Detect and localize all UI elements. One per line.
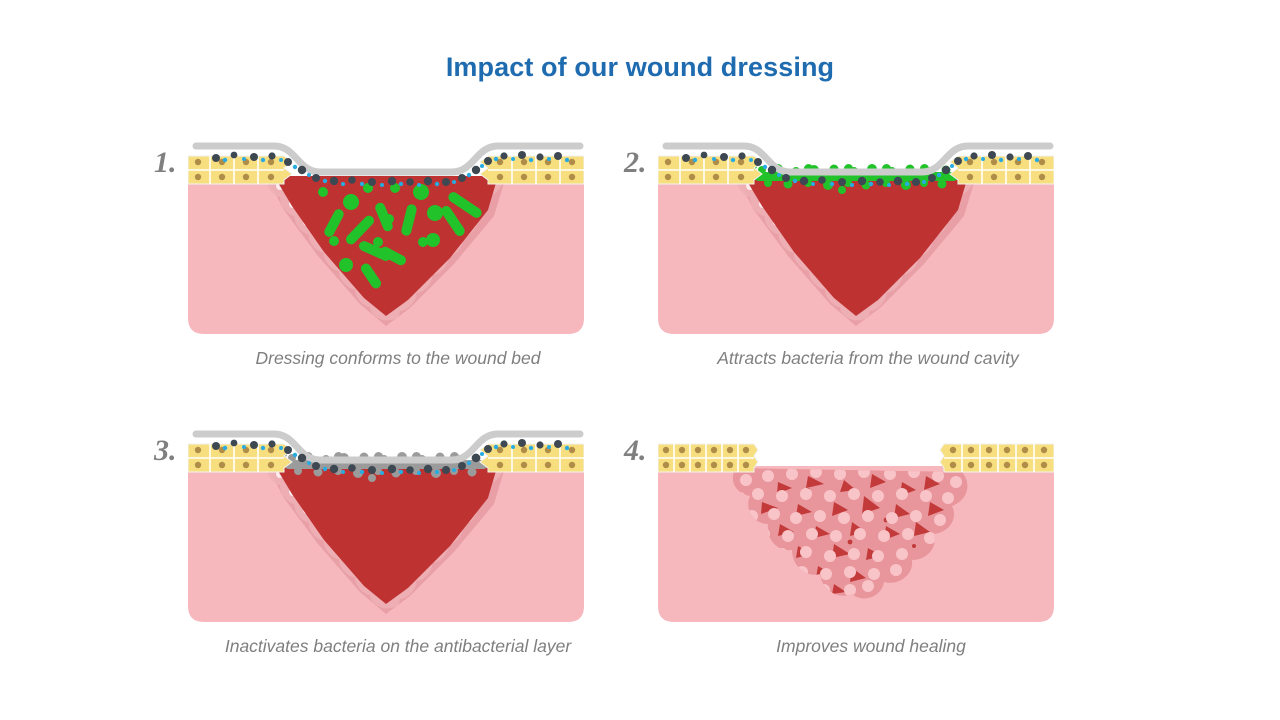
epidermis-right (940, 444, 1054, 472)
panel-number-2: 2. (624, 148, 647, 178)
panel-number-1: 1. (154, 148, 177, 178)
epidermis-left (188, 444, 292, 472)
wound-diagram-step-1 (188, 140, 584, 340)
panel-step-4: 4. (618, 428, 1118, 688)
panel-step-2: 2. (618, 140, 1118, 400)
epidermis-left (658, 444, 758, 472)
epidermis-left (188, 156, 292, 184)
panel-caption-2: Attracts bacteria from the wound cavity (618, 348, 1118, 369)
panel-number-4: 4. (624, 436, 647, 466)
panel-number-3: 3. (154, 436, 177, 466)
panel-step-3: 3. (148, 428, 648, 688)
epidermis-left (658, 156, 762, 184)
panel-caption-4: Improves wound healing (618, 636, 1118, 657)
page-title: Impact of our wound dressing (0, 52, 1280, 83)
panel-caption-1: Dressing conforms to the wound bed (148, 348, 648, 369)
wound-diagram-step-3 (188, 428, 584, 628)
wound-diagram-step-2 (658, 140, 1054, 340)
panel-step-1: 1. (148, 140, 648, 400)
panel-caption-3: Inactivates bacteria on the antibacteria… (148, 636, 648, 657)
wound-diagram-step-4 (658, 428, 1054, 628)
